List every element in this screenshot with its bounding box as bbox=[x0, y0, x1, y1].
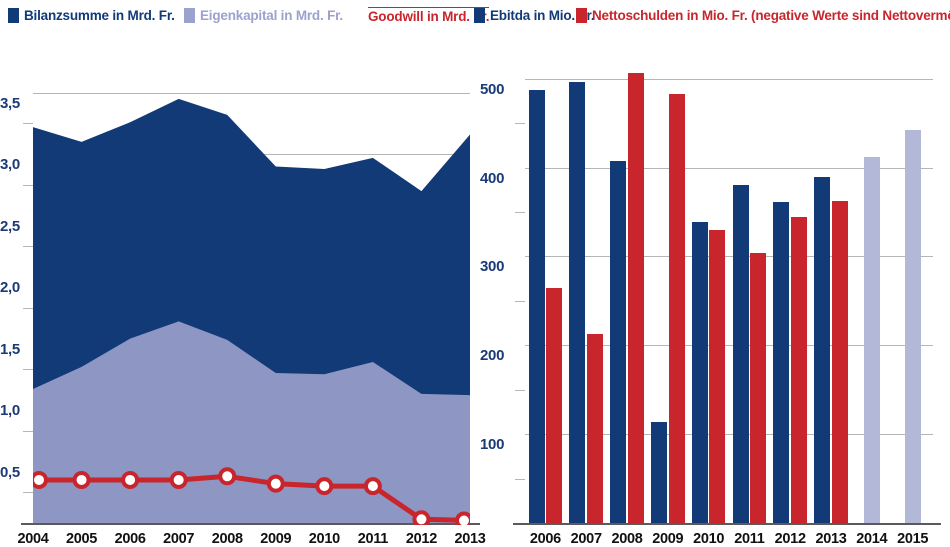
goodwill-data-point bbox=[172, 473, 186, 487]
y-axis-tick-label: 300 bbox=[480, 259, 516, 274]
bar bbox=[628, 73, 644, 523]
y-minor-tick bbox=[23, 123, 33, 124]
legend-item: Nettoschulden in Mio. Fr. (negative Wert… bbox=[576, 8, 950, 23]
goodwill-data-point bbox=[457, 514, 470, 525]
x-axis-line bbox=[513, 523, 941, 525]
y-minor-tick bbox=[515, 390, 525, 391]
x-axis-tick-label: 2007 bbox=[155, 531, 203, 547]
y-gridline bbox=[525, 79, 933, 80]
y-minor-tick bbox=[23, 492, 33, 493]
y-minor-tick bbox=[23, 246, 33, 247]
bar bbox=[791, 217, 807, 523]
goodwill-data-point bbox=[75, 473, 89, 487]
x-axis-tick-label: 2005 bbox=[58, 531, 106, 547]
y-axis-tick-label: 0,5 bbox=[0, 465, 28, 480]
left-area-chart-panel: 0,51,01,52,02,53,03,52004200520062007200… bbox=[0, 32, 476, 535]
x-axis-tick-label: 2011 bbox=[349, 531, 397, 547]
right-bar-chart-panel: 1002003004005002006200720082009201020112… bbox=[476, 32, 950, 535]
bar bbox=[733, 185, 749, 524]
legend-swatch-icon bbox=[474, 8, 485, 23]
legend-item-label: Goodwill in Mrd. Fr. bbox=[368, 7, 489, 24]
goodwill-data-point bbox=[317, 479, 331, 493]
y-axis-tick-label: 200 bbox=[480, 348, 516, 363]
legend-item: Goodwill in Mrd. Fr. bbox=[368, 7, 489, 24]
x-axis-tick-label: 2004 bbox=[9, 531, 57, 547]
legend-swatch-icon bbox=[8, 8, 19, 23]
y-minor-tick bbox=[515, 479, 525, 480]
y-axis-tick-label: 1,0 bbox=[0, 403, 28, 418]
x-axis-tick-label: 2015 bbox=[889, 531, 937, 547]
bar bbox=[832, 201, 848, 523]
x-axis-tick-label: 2010 bbox=[300, 531, 348, 547]
x-axis-tick-label: 2006 bbox=[106, 531, 154, 547]
bar bbox=[651, 422, 667, 523]
legend-item-label: Bilanzsumme in Mrd. Fr. bbox=[24, 8, 175, 23]
y-minor-tick bbox=[515, 123, 525, 124]
goodwill-data-point bbox=[269, 477, 283, 491]
bar bbox=[569, 82, 585, 523]
bar bbox=[669, 94, 685, 523]
bar bbox=[546, 288, 562, 523]
bar bbox=[610, 161, 626, 523]
y-axis-tick-label: 2,0 bbox=[0, 280, 28, 295]
goodwill-data-point bbox=[366, 479, 380, 493]
y-minor-tick bbox=[23, 431, 33, 432]
y-axis-tick-label: 3,5 bbox=[0, 96, 28, 111]
goodwill-data-point bbox=[123, 473, 137, 487]
area-series-graphic bbox=[33, 62, 470, 525]
chart-figure: Bilanzsumme in Mrd. Fr.Eigenkapital in M… bbox=[0, 0, 950, 535]
bar bbox=[905, 130, 921, 523]
legend-item: Bilanzsumme in Mrd. Fr. bbox=[8, 8, 175, 23]
legend-swatch-icon bbox=[184, 8, 195, 23]
y-axis-tick-label: 400 bbox=[480, 171, 516, 186]
y-minor-tick bbox=[515, 212, 525, 213]
bar bbox=[587, 334, 603, 523]
x-axis-tick-label: 2008 bbox=[203, 531, 251, 547]
legend-item-label: Eigenkapital in Mrd. Fr. bbox=[200, 8, 343, 23]
x-axis-tick-label: 2012 bbox=[397, 531, 445, 547]
goodwill-data-point bbox=[414, 512, 428, 525]
y-axis-tick-label: 2,5 bbox=[0, 219, 28, 234]
goodwill-data-point bbox=[33, 473, 46, 487]
y-minor-tick bbox=[515, 301, 525, 302]
y-axis-tick-label: 1,5 bbox=[0, 342, 28, 357]
y-minor-tick bbox=[23, 185, 33, 186]
goodwill-data-point bbox=[220, 469, 234, 483]
y-minor-tick bbox=[23, 369, 33, 370]
chart-legend: Bilanzsumme in Mrd. Fr.Eigenkapital in M… bbox=[0, 0, 950, 32]
bar bbox=[864, 157, 880, 523]
y-axis-tick-label: 3,0 bbox=[0, 157, 28, 172]
bar bbox=[692, 222, 708, 523]
left-plot-area: 0,51,01,52,02,53,03,52004200520062007200… bbox=[33, 62, 470, 523]
bar bbox=[773, 202, 789, 523]
y-axis-tick-label: 500 bbox=[480, 82, 516, 97]
bar bbox=[814, 177, 830, 524]
y-minor-tick bbox=[23, 308, 33, 309]
bar bbox=[750, 253, 766, 523]
legend-swatch-icon bbox=[576, 8, 587, 23]
y-axis-tick-label: 100 bbox=[480, 437, 516, 452]
legend-item-label: Nettoschulden in Mio. Fr. (negative Wert… bbox=[592, 8, 950, 23]
right-plot-area: 1002003004005002006200720082009201020112… bbox=[525, 61, 933, 523]
bar bbox=[709, 230, 725, 523]
legend-item: Eigenkapital in Mrd. Fr. bbox=[184, 8, 343, 23]
bar bbox=[529, 90, 545, 523]
x-axis-tick-label: 2009 bbox=[252, 531, 300, 547]
